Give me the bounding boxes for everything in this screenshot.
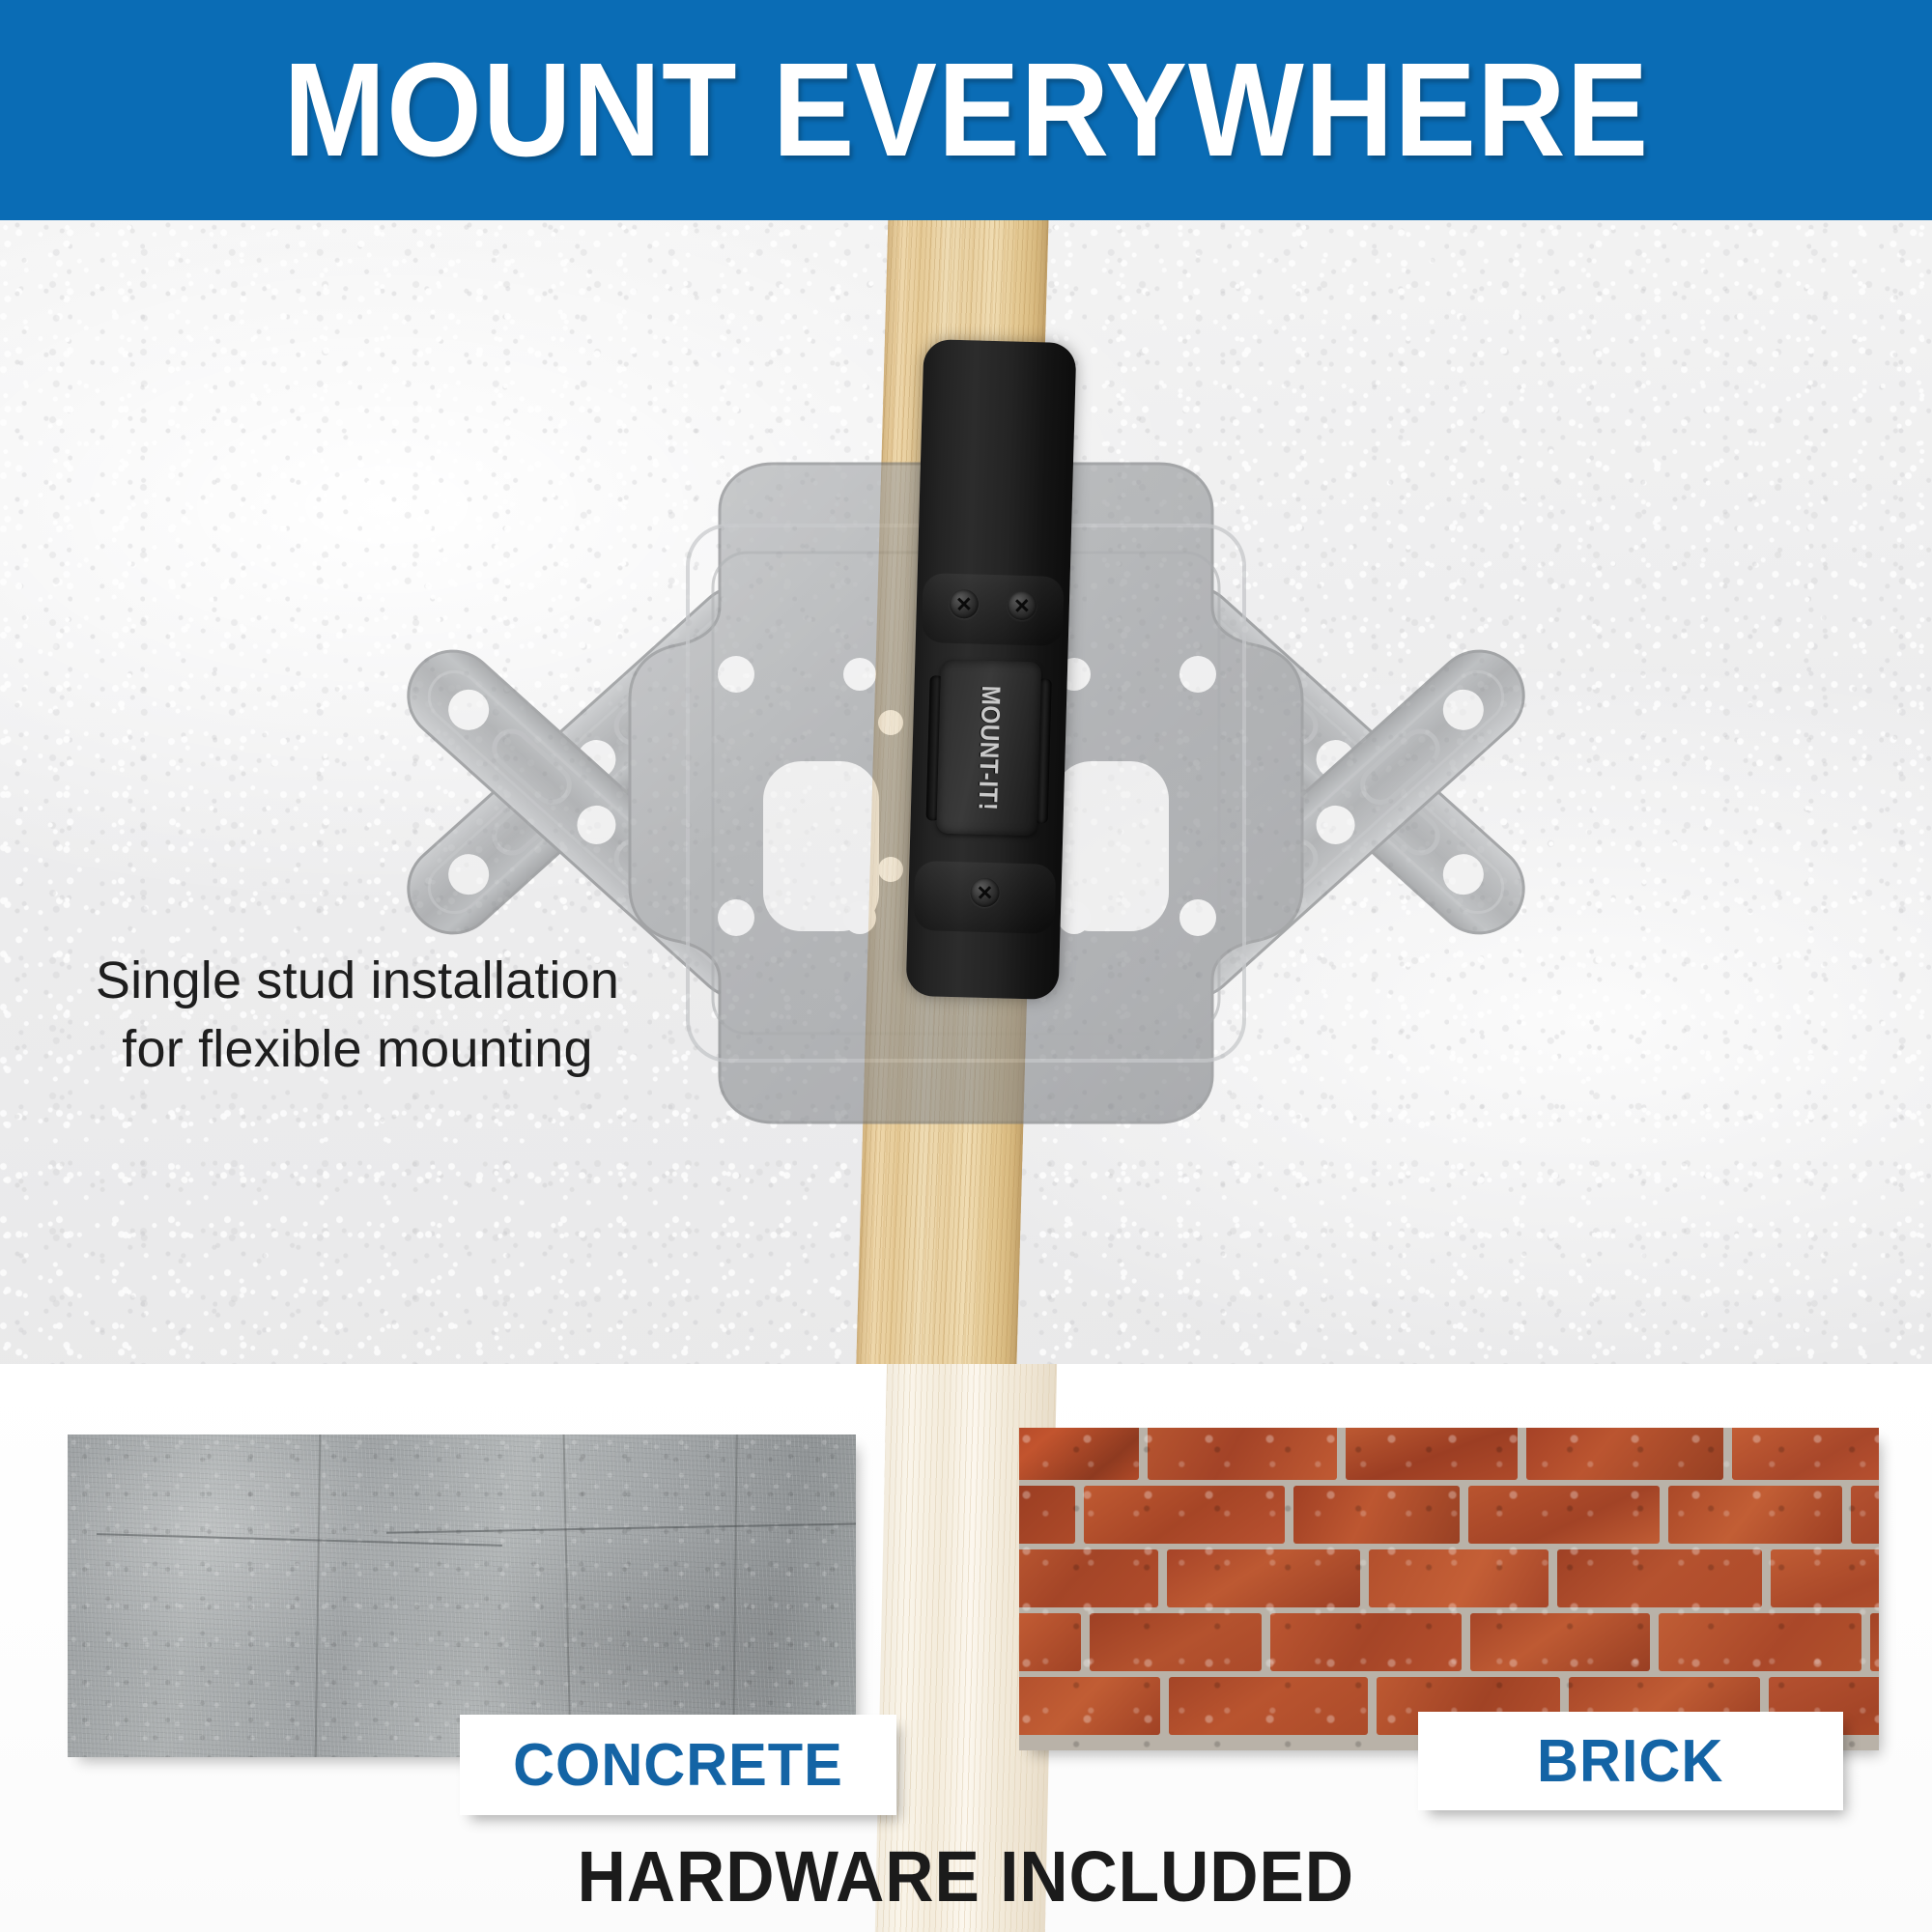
callout-brick: BRICK [1418, 1712, 1843, 1810]
feature-caption: Single stud installation for flexible mo… [58, 947, 657, 1085]
swatch-concrete [68, 1435, 856, 1757]
footer-headline: HARDWARE INCLUDED [0, 1835, 1932, 1918]
top-scene-panel: MOUNT-IT! Single stud installation for f… [0, 220, 1932, 1364]
feature-caption-line-1: Single stud installation [58, 947, 657, 1015]
brick-row [1019, 1428, 1879, 1480]
banner-title: MOUNT EVERYWHERE [283, 43, 1649, 177]
swatch-brick [1019, 1428, 1879, 1750]
product-feature-image: MOUNT EVERYWHERE [0, 0, 1932, 1932]
callout-concrete-label: CONCRETE [513, 1731, 843, 1800]
brick-row [1019, 1613, 1879, 1671]
brand-logo-plate: MOUNT-IT! [936, 660, 1041, 837]
concrete-grain-texture [68, 1435, 856, 1757]
brand-logo-text: MOUNT-IT! [972, 685, 1006, 810]
brick-row [1019, 1486, 1879, 1544]
header-banner: MOUNT EVERYWHERE [0, 0, 1932, 220]
wall-plate: MOUNT-IT! [906, 339, 1077, 1000]
wall-plate-band-top [922, 573, 1065, 646]
callout-concrete: CONCRETE [460, 1715, 896, 1815]
footer-headline-text: HARDWARE INCLUDED [578, 1835, 1354, 1918]
callout-brick-label: BRICK [1537, 1727, 1723, 1796]
brick-row [1019, 1549, 1879, 1607]
feature-caption-line-2: for flexible mounting [58, 1015, 657, 1084]
